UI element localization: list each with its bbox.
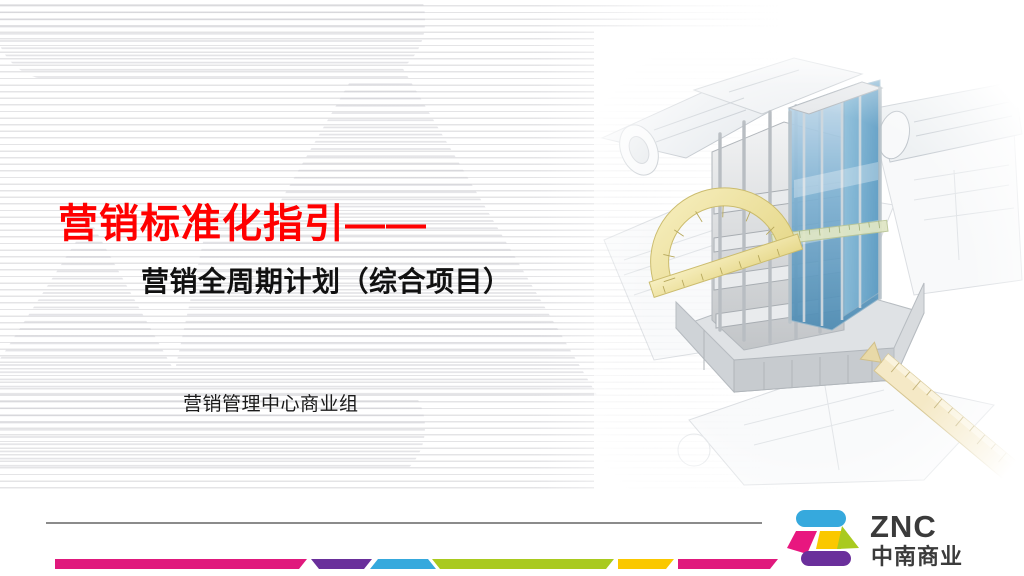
logo-mark: [787, 510, 859, 566]
logo-wordmark: ZNC 中南商业: [870, 509, 963, 569]
footer-divider: [46, 522, 762, 524]
color-bar-segments: [55, 559, 778, 569]
logo-left-triangle: [787, 531, 817, 554]
logo-bottom-bar: [801, 551, 851, 566]
page-title-main: 营销标准化指引——: [58, 203, 427, 245]
presenter-byline: 营销管理中心商业组: [183, 389, 359, 416]
logo-right-triangle: [837, 526, 859, 549]
presentation-slide: 营销标准化指引—— 营销全周期计划（综合项目） 营销管理中心商业组: [0, 0, 1024, 576]
svg-text:ZNC: ZNC: [870, 509, 937, 544]
hero-image-building-model: [594, 30, 1024, 490]
page-title-sub: 营销全周期计划（综合项目）: [141, 267, 512, 298]
footer-color-bar: [0, 552, 790, 574]
logo-top-bar: [796, 510, 846, 527]
svg-text:中南商业: 中南商业: [871, 544, 963, 569]
brand-logo: ZNC 中南商业: [779, 504, 1014, 572]
